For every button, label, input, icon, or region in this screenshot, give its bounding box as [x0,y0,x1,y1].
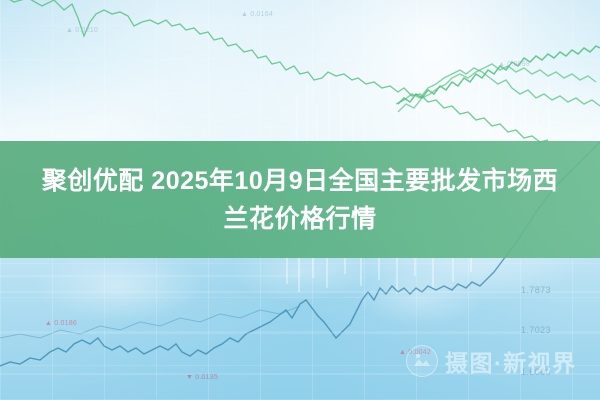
price-label: 1.7873 [521,285,551,295]
marker-value: 0.0164 [250,11,273,18]
marker-arrow-up-icon: ▲ [66,27,73,34]
price-label: 1.7023 [521,325,551,335]
article-cover-image: 1.7873 1.7023 1.6000 ▲ 0.0186 ▼ 0.0135 ▲… [0,0,600,400]
headline-line-2: 兰花价格行情 [223,200,376,238]
marker-arrow-up-icon: ▲ [241,11,248,18]
marker-arrow-up-icon: ▲ [498,61,505,68]
marker-value: 0.0135 [195,374,218,381]
marker-value: 0.0186 [54,320,77,327]
headline-line-1: 聚创优配 2025年10月9日全国主要批发市场西 [42,162,558,200]
chart-line-green-declining [0,0,548,142]
chart-marker: ▲ 0.0164 [241,11,273,18]
candlestick-cluster-upper [296,60,550,148]
marker-arrow-up-icon: ▲ [399,349,406,356]
chart-marker: ▲ 0.0186 [45,320,77,327]
marker-arrow-down-icon: ▼ [186,374,193,381]
price-label: 1.6000 [521,367,551,377]
marker-value: 0.0210 [75,27,98,34]
marker-arrow-up-icon: ▲ [45,320,52,327]
chart-marker: ▲ 0.0098 [498,61,530,68]
chart-marker: ▲ 0.0042 [399,349,431,356]
chart-marker: ▼ 0.0135 [186,374,218,381]
headline-banner: 聚创优配 2025年10月9日全国主要批发市场西 兰花价格行情 [0,141,600,258]
marker-value: 0.0098 [507,61,530,68]
chart-marker: ▲ 0.0210 [66,27,98,34]
marker-value: 0.0042 [408,349,431,356]
